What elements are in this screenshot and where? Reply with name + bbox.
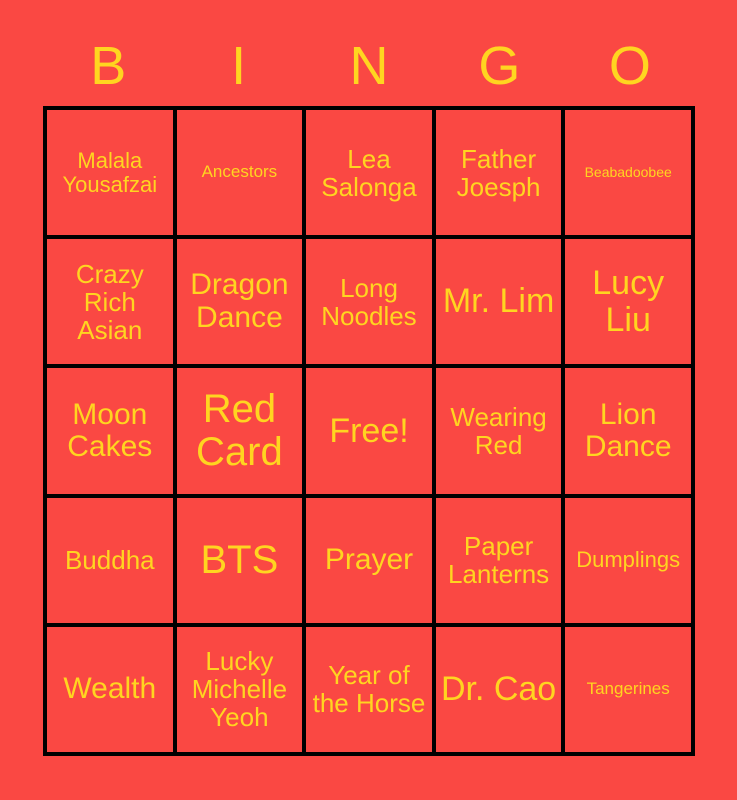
bingo-cell-label: Lea Salonga [309,145,429,201]
header-letter-g: G [434,32,564,100]
bingo-cell-label: Dumplings [568,548,688,572]
bingo-cell-label: Tangerines [568,680,688,698]
bingo-cell-r5c3[interactable]: Year of the Horse [306,627,432,752]
bingo-cell-label: Prayer [309,544,429,576]
bingo-cell-label: Lucky Michelle Yeoh [180,647,300,731]
bingo-cell-free-space[interactable]: Free! [306,368,432,493]
bingo-grid: Malala Yousafzai Ancestors Lea Salonga F… [43,106,695,756]
bingo-cell-r5c1[interactable]: Wealth [47,627,173,752]
bingo-cell-r4c3[interactable]: Prayer [306,498,432,623]
bingo-cell-label: BTS [180,539,300,582]
bingo-cell-r4c4[interactable]: Paper Lanterns [436,498,562,623]
bingo-cell-r4c1[interactable]: Buddha [47,498,173,623]
bingo-cell-r4c2[interactable]: BTS [177,498,303,623]
bingo-cell-label: Crazy Rich Asian [50,260,170,344]
bingo-cell-label: Dragon Dance [180,269,300,334]
header-letter-n: N [304,32,434,100]
bingo-cell-label: Lucy Liu [568,265,688,338]
bingo-cell-label: Mr. Lim [439,283,559,320]
bingo-cell-label: Dr. Cao [439,671,559,708]
bingo-cell-label: Long Noodles [309,274,429,330]
bingo-cell-r3c2[interactable]: Red Card [177,368,303,493]
header-letter-i: I [173,32,303,100]
bingo-cell-r4c5[interactable]: Dumplings [565,498,691,623]
bingo-cell-r1c3[interactable]: Lea Salonga [306,110,432,235]
bingo-cell-r1c1[interactable]: Malala Yousafzai [47,110,173,235]
bingo-cell-label: Father Joesph [439,145,559,201]
bingo-cell-label: Lion Dance [568,399,688,464]
bingo-cell-label: Wearing Red [439,403,559,459]
header-letter-o: O [565,32,695,100]
bingo-cell-r5c5[interactable]: Tangerines [565,627,691,752]
bingo-cell-label: Malala Yousafzai [50,149,170,197]
bingo-cell-r1c4[interactable]: Father Joesph [436,110,562,235]
bingo-header: B I N G O [43,32,695,100]
bingo-cell-label: Buddha [50,546,170,574]
bingo-card: B I N G O Malala Yousafzai Ancestors Lea… [0,0,737,800]
bingo-cell-r1c2[interactable]: Ancestors [177,110,303,235]
bingo-cell-r2c5[interactable]: Lucy Liu [565,239,691,364]
header-letter-b: B [43,32,173,100]
bingo-cell-r1c5[interactable]: Beabadoobee [565,110,691,235]
bingo-cell-r5c4[interactable]: Dr. Cao [436,627,562,752]
bingo-cell-r2c3[interactable]: Long Noodles [306,239,432,364]
bingo-cell-label: Wealth [50,673,170,705]
bingo-cell-r3c4[interactable]: Wearing Red [436,368,562,493]
bingo-cell-r5c2[interactable]: Lucky Michelle Yeoh [177,627,303,752]
bingo-cell-label: Beabadoobee [568,165,688,180]
bingo-cell-r3c5[interactable]: Lion Dance [565,368,691,493]
bingo-cell-r2c2[interactable]: Dragon Dance [177,239,303,364]
bingo-cell-label: Free! [309,413,429,450]
bingo-cell-label: Paper Lanterns [439,532,559,588]
bingo-cell-label: Year of the Horse [309,661,429,717]
bingo-cell-r3c1[interactable]: Moon Cakes [47,368,173,493]
bingo-cell-label: Ancestors [180,163,300,181]
bingo-cell-label: Red Card [180,388,300,474]
bingo-cell-r2c4[interactable]: Mr. Lim [436,239,562,364]
bingo-cell-label: Moon Cakes [50,399,170,464]
bingo-cell-r2c1[interactable]: Crazy Rich Asian [47,239,173,364]
